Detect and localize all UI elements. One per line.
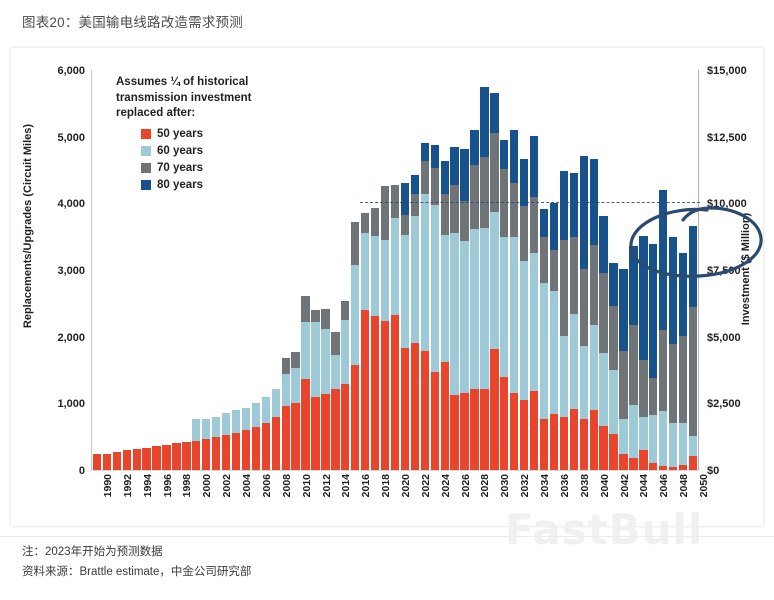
bar-segment [321,329,329,394]
bar-segment [530,391,538,470]
bar-segment [301,322,309,379]
bar-segment [401,348,409,470]
bar-segment [490,212,498,349]
bar-segment [639,450,647,470]
bar-segment [649,378,657,415]
bar-segment [381,321,389,470]
bar-segment [202,419,210,438]
bar-segment [282,374,290,406]
bar [152,446,160,470]
bar-segment [580,419,588,470]
x-tick-label: 2022 [420,474,432,497]
bar-segment [331,355,339,390]
bar-segment [272,389,280,417]
bar-segment [609,434,617,470]
bar-segment [252,403,260,427]
bar-segment [669,467,677,470]
bar-segment [470,229,478,390]
legend-items: 50 years60 years70 years80 years [116,126,306,194]
bar-segment [570,237,578,314]
bar-segment [431,372,439,470]
bar [321,309,329,470]
x-tick-label: 2042 [619,474,631,497]
bar-segment [560,171,568,240]
bar-segment [421,194,429,351]
legend-item-80[interactable]: 80 years [141,177,306,194]
bar-segment [550,414,558,470]
y-tick-right: $15,000 [707,65,771,77]
footer-source: 资料来源：Brattle estimate，中金公司研究部 [22,562,251,582]
bar-segment [441,194,449,235]
bar-segment [540,237,548,283]
footer-notes: 注：2023年开始为预测数据 资料来源：Brattle estimate，中金公… [22,542,251,582]
x-tick-label: 2050 [698,474,710,497]
y-tick-right: $7,500 [707,265,771,277]
page-title: 图表20：美国输电线路改造需求预测 [22,11,243,31]
bar-segment [291,368,299,403]
y-tick-left: 0 [25,465,85,477]
bar-segment [639,236,647,360]
bar [609,263,617,470]
bar-segment [540,209,548,237]
bar [341,301,349,470]
x-tick-label: 2036 [559,474,571,497]
footer-divider [0,536,774,537]
bar-segment [441,362,449,470]
bar-segment [351,222,359,265]
bar [679,253,687,470]
bar-segment [441,161,449,194]
bar-segment [669,344,677,423]
legend-heading-line: replaced after: [116,106,306,122]
x-axis-baseline [91,470,699,471]
x-tick-label: 1990 [102,474,114,497]
bar-segment [381,186,389,240]
bar-segment [311,397,319,470]
bar-segment [381,240,389,321]
bar [331,332,339,470]
bar-segment [689,456,697,470]
bar [202,419,210,470]
y-tick-left: 5,000 [25,132,85,144]
bar [540,209,548,470]
bar-segment [540,283,548,420]
bar-segment [142,448,150,470]
bar [291,352,299,470]
bar [212,417,220,470]
bar [570,173,578,470]
bar [182,442,190,470]
bar-segment [192,441,200,470]
bar-segment [530,253,538,392]
bar-segment [510,393,518,470]
bar [460,149,468,470]
bar-segment [689,226,697,307]
bar-segment [460,393,468,470]
x-tick-label: 2016 [360,474,372,497]
bar-segment [113,452,121,470]
bar-segment [321,394,329,470]
bar-segment [421,143,429,160]
bar-segment [282,358,290,374]
x-tick-label: 2024 [440,474,452,497]
bar [599,216,607,470]
x-tick-label: 1992 [122,474,134,497]
bar-segment [172,443,180,470]
bar-segment [480,389,488,470]
bar-segment [431,168,439,205]
bar [590,159,598,470]
bar-segment [341,301,349,320]
bar-segment [520,400,528,470]
bar-segment [371,316,379,470]
bar-segment [401,215,409,236]
bar-segment [212,437,220,470]
bar-segment [470,165,478,228]
bar-segment [659,190,667,330]
bar [262,397,270,470]
bar-segment [530,197,538,252]
bar [500,140,508,470]
y-axis-right-line [698,70,699,471]
bar-segment [570,173,578,237]
bar-segment [520,261,528,400]
bar [431,145,439,470]
bar [669,237,677,470]
bar-segment [689,436,697,456]
bar-segment [93,454,101,470]
bar-segment [550,203,558,250]
bar-segment [580,269,588,346]
bar-segment [272,417,280,470]
bar-segment [411,175,419,194]
bar [133,449,141,470]
legend-swatch-icon [141,129,151,139]
bar [123,450,131,470]
x-tick-label: 2018 [380,474,392,497]
bar-segment [580,346,588,419]
bar-segment [490,349,498,470]
bar-segment [311,310,319,322]
bar-segment [192,419,200,441]
bar-segment [470,389,478,470]
bar-segment [639,417,647,450]
reference-line [360,202,700,203]
bar-segment [679,336,687,423]
y-tick-left: 2,000 [25,332,85,344]
bar-segment [570,409,578,470]
bar-segment [500,377,508,470]
x-tick-label: 2002 [221,474,233,497]
bar-segment [649,415,657,463]
bar-segment [659,330,667,411]
bar-segment [550,250,558,291]
bar-segment [520,159,528,206]
chart-legend: Assumes ¼ of historicaltransmission inve… [116,75,306,194]
x-tick-label: 2010 [301,474,313,497]
legend-swatch-icon [141,163,151,173]
y-tick-right: $5,000 [707,332,771,344]
bar [550,203,558,470]
bar [649,244,657,470]
legend-item-label: 50 years [157,128,203,140]
y-tick-left: 3,000 [25,265,85,277]
x-tick-label: 2006 [261,474,273,497]
x-tick-label: 2028 [479,474,491,497]
x-tick-label: 2008 [281,474,293,497]
bar [103,454,111,470]
bar-segment [450,185,458,233]
bar-segment [629,325,637,406]
bar-segment [222,435,230,470]
bar-segment [460,201,468,241]
legend-heading-line: Assumes ¼ of historical [116,75,306,91]
bar-segment [341,320,349,384]
bar-segment [510,237,518,392]
legend-item-70[interactable]: 70 years [141,160,306,177]
bar-segment [560,240,568,336]
bar-segment [619,454,627,470]
bar-segment [649,463,657,470]
bar [490,93,498,470]
bar-segment [401,183,409,215]
bar-segment [282,406,290,470]
legend-swatch-icon [141,180,151,190]
bar [530,136,538,470]
bar [272,389,280,470]
bar [142,448,150,470]
bar [619,269,627,470]
x-tick-label: 2012 [321,474,333,497]
x-tick-label: 2000 [201,474,213,497]
x-tick-label: 2026 [460,474,472,497]
bar-segment [371,208,379,236]
bar-segment [460,241,468,394]
y-tick-left: 1,000 [25,398,85,410]
bar [192,419,200,470]
bar-segment [580,156,588,269]
bar [480,87,488,470]
bar-segment [540,419,548,470]
bar-segment [590,410,598,470]
bar-segment [460,149,468,200]
bar [351,222,359,470]
bar-segment [530,136,538,197]
bar-segment [490,133,498,212]
x-tick-label: 2044 [638,474,650,497]
bar [411,175,419,470]
bar-segment [659,466,667,470]
bar-segment [351,265,359,365]
bar [242,408,250,470]
bar-segment [262,397,270,423]
bar-segment [411,343,419,470]
bar-segment [361,233,369,310]
bar-segment [679,423,687,466]
bar-segment [450,147,458,184]
legend-heading-line: transmission investment [116,91,306,107]
bar-segment [212,417,220,437]
bar [282,358,290,470]
bar-segment [679,465,687,470]
x-tick-label: 1996 [162,474,174,497]
bar-segment [450,233,458,395]
legend-item-60[interactable]: 60 years [141,143,306,160]
x-tick-label: 2034 [539,474,551,497]
bar [639,236,647,470]
bar-segment [431,145,439,168]
x-axis-tick-labels: 1990199219941996199820002002200420062008… [92,474,699,526]
bar-segment [232,433,240,470]
bar-segment [202,439,210,470]
bar [371,208,379,470]
bar-segment [133,449,141,470]
x-tick-label: 2014 [340,474,352,497]
bar-segment [351,365,359,470]
bar [629,246,637,470]
bar-segment [609,263,617,306]
bar-segment [560,336,568,417]
bar-segment [411,194,419,216]
bar-segment [411,216,419,343]
bar [162,445,170,470]
bar-segment [560,417,568,470]
bar-segment [421,161,429,194]
bar-segment [599,353,607,426]
bar-segment [629,405,637,458]
bar [659,190,667,470]
bar-segment [609,306,617,370]
bar-segment [639,360,647,417]
bar [93,454,101,470]
bar [689,226,697,470]
bar [470,130,478,470]
x-tick-label: 2032 [519,474,531,497]
bar [301,296,309,470]
bar-segment [520,206,528,261]
bar-segment [252,427,260,470]
x-tick-label: 2046 [658,474,670,497]
legend-item-label: 70 years [157,162,203,174]
bar-segment [609,370,617,434]
bar-segment [391,315,399,470]
bar [450,147,458,470]
screenshot-root: 图表20：美国输电线路改造需求预测 Replacements/Upgrades … [0,0,774,600]
chart-figure: Replacements/Upgrades (Circuit Miles) In… [11,48,763,526]
bar-segment [421,351,429,470]
x-tick-label: 2030 [499,474,511,497]
bar-segment [371,236,379,316]
x-tick-label: 2040 [599,474,611,497]
bar-segment [629,246,637,325]
bar [311,310,319,470]
bar [421,143,429,470]
bar-segment [510,183,518,237]
bar-segment [619,269,627,352]
bar-segment [291,352,299,368]
bar-segment [450,395,458,470]
bar-segment [599,273,607,353]
bar [113,452,121,470]
bar-segment [629,458,637,470]
bar-segment [500,140,508,169]
bar-segment [649,244,657,378]
y-tick-right: $12,500 [707,132,771,144]
bar-segment [182,442,190,470]
y-tick-right: $10,000 [707,198,771,210]
x-tick-label: 2004 [241,474,253,497]
bar [391,185,399,470]
bar-segment [599,216,607,273]
legend-item-50[interactable]: 50 years [141,126,306,143]
bar-segment [619,419,627,454]
bar-segment [689,307,697,436]
y-tick-left: 6,000 [25,65,85,77]
bar-segment [123,450,131,470]
legend-heading: Assumes ¼ of historicaltransmission inve… [116,75,306,122]
bar-segment [361,310,369,470]
bar [361,213,369,470]
y-tick-right: $0 [707,465,771,477]
bar-segment [570,314,578,409]
bar-segment [321,309,329,329]
footer-note: 注：2023年开始为预测数据 [22,542,251,562]
bar-segment [331,389,339,470]
bar [510,130,518,470]
bar [222,413,230,470]
x-tick-label: 1994 [142,474,154,497]
bar-segment [301,296,309,322]
bar-segment [232,410,240,433]
bar-segment [659,411,667,466]
bar-segment [431,205,439,372]
bar-segment [550,291,558,414]
bar-segment [162,445,170,470]
bar-segment [480,228,488,389]
bar-segment [669,423,677,467]
x-tick-label: 1998 [181,474,193,497]
bar-segment [242,408,250,430]
bar-segment [510,130,518,183]
bar [560,171,568,470]
x-tick-label: 2048 [678,474,690,497]
bar [252,403,260,470]
bar-segment [590,325,598,410]
bar [232,410,240,470]
bar [381,186,389,470]
bar-segment [262,423,270,470]
bar-segment [490,93,498,133]
bar-segment [679,253,687,336]
bar-segment [152,446,160,470]
bar-segment [242,430,250,470]
bar [520,159,528,470]
legend-item-label: 80 years [157,179,203,191]
bar-segment [222,413,230,434]
bar-segment [301,379,309,470]
bar-segment [441,235,449,362]
bar-segment [361,213,369,234]
bar-segment [590,245,598,325]
legend-item-label: 60 years [157,145,203,157]
bar-segment [480,87,488,158]
x-tick-label: 2020 [400,474,412,497]
bar [401,183,409,470]
bar-segment [500,237,508,377]
bar-segment [669,237,677,344]
bar-segment [341,384,349,470]
bar-segment [619,351,627,418]
